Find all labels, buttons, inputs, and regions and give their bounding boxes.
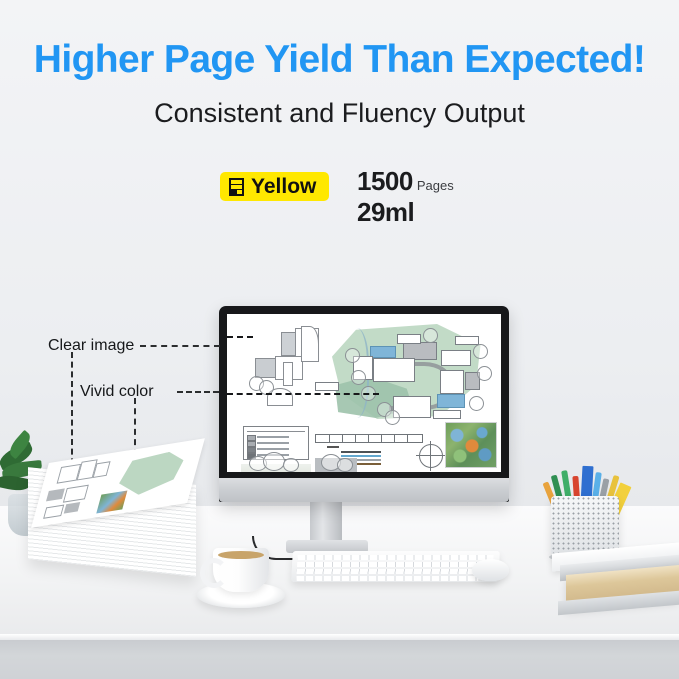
printed-block	[64, 502, 81, 514]
plan-tree	[423, 328, 438, 343]
plan-section-line	[227, 336, 253, 338]
plan-label-box	[397, 334, 421, 344]
legend-row	[247, 435, 305, 439]
monitor-chin	[219, 478, 509, 502]
plan-tree	[345, 348, 360, 363]
plan-building	[370, 346, 396, 358]
plan-sketch-curve	[301, 326, 319, 362]
plan-section-line	[227, 393, 379, 395]
page-yield-unit: Pages	[417, 178, 454, 193]
plan-building	[441, 350, 471, 366]
mouse[interactable]	[472, 559, 509, 581]
page-yield-value: 1500	[357, 166, 413, 196]
plan-tree	[473, 344, 488, 359]
page-title: Higher Page Yield Than Expected!	[0, 38, 679, 82]
monitor-screen	[227, 314, 501, 472]
plan-sketch-block	[283, 362, 293, 386]
keyboard[interactable]	[291, 551, 500, 582]
plan-pool	[437, 394, 465, 408]
computer-monitor	[219, 306, 509, 502]
plan-compass-rose	[419, 444, 443, 468]
site-plan-drawing	[227, 314, 501, 472]
badge-label: Yellow	[251, 176, 316, 197]
monitor-stand-neck	[310, 502, 342, 544]
coffee-cup	[213, 548, 269, 592]
printed-block	[46, 488, 65, 501]
plan-label-box	[315, 382, 339, 391]
ink-cartridge-icon	[229, 178, 244, 196]
plan-tree	[385, 410, 400, 425]
legend-row	[247, 441, 305, 445]
product-marketing-image: Higher Page Yield Than Expected! Consist…	[0, 0, 679, 679]
color-badge: Yellow	[220, 172, 329, 201]
yield-info: 1500Pages 29ml	[357, 168, 454, 225]
plan-color-rendering	[445, 422, 497, 468]
printed-block	[63, 485, 89, 503]
printed-color-rendering	[96, 491, 127, 514]
legend-text-line	[257, 448, 289, 450]
volume-value: 29ml	[357, 199, 454, 225]
plan-scale-bar	[315, 434, 423, 443]
callout-leader-vivid-horizontal	[177, 391, 219, 393]
legend-text-line	[257, 436, 289, 438]
callout-vivid-color: Vivid color	[80, 383, 154, 401]
printed-block	[43, 505, 64, 519]
plan-tree-elevation	[263, 452, 285, 471]
legend-row	[247, 447, 305, 451]
spec-row: Yellow 1500Pages 29ml	[215, 168, 515, 228]
callout-clear-image: Clear image	[48, 337, 134, 355]
plan-building	[373, 358, 415, 382]
printed-block	[93, 461, 111, 478]
cup-handle	[200, 558, 228, 588]
paper-stack	[28, 452, 206, 570]
plan-label-box	[455, 336, 479, 345]
desk-front-panel	[0, 640, 679, 679]
plan-tree	[351, 370, 366, 385]
plan-tree	[477, 366, 492, 381]
callout-leader-clear-horizontal	[140, 345, 220, 347]
plan-tree-elevation	[337, 458, 353, 472]
plan-label-box	[433, 410, 461, 419]
plan-tree-elevation	[283, 458, 299, 472]
plan-tree	[469, 396, 484, 411]
legend-text-line	[257, 442, 289, 444]
page-subtitle: Consistent and Fluency Output	[0, 98, 679, 129]
coffee-liquid	[218, 551, 264, 559]
plan-building	[440, 370, 464, 394]
